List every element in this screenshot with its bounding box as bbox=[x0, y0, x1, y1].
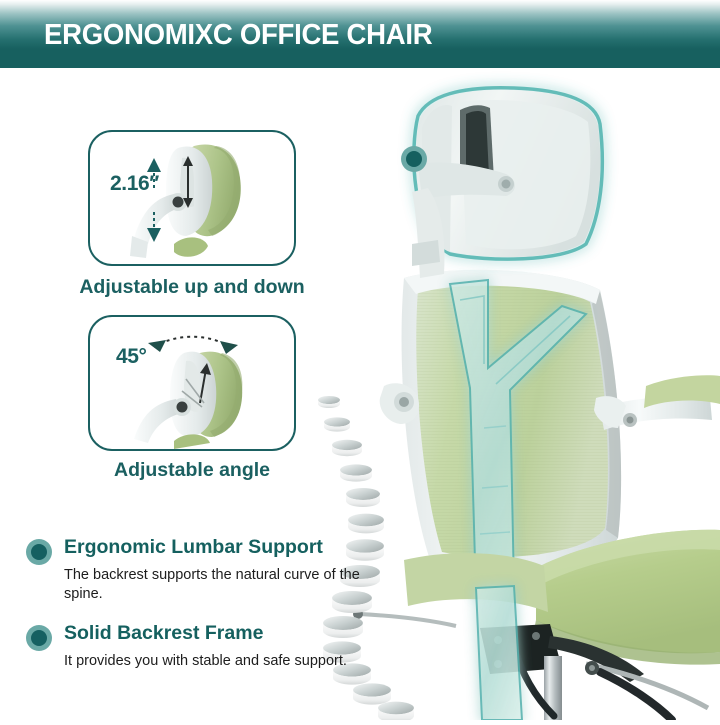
disc-14 bbox=[378, 702, 414, 720]
ring-bullet-icon bbox=[26, 625, 52, 651]
headrest-rotation-arc-icon bbox=[90, 317, 294, 449]
disc-4 bbox=[340, 464, 372, 481]
disc-6 bbox=[348, 514, 384, 534]
ring-bullet-icon bbox=[26, 539, 52, 565]
disc-2 bbox=[324, 417, 350, 431]
bullet-title: Solid Backrest Frame bbox=[64, 622, 263, 645]
feature-caption-adjustable-angle: Adjustable angle bbox=[52, 459, 332, 482]
headrest-highlight-marker-icon bbox=[401, 146, 427, 172]
disc-5 bbox=[346, 488, 380, 507]
header-banner: ERGONOMIXC OFFICE CHAIR bbox=[0, 0, 720, 68]
disc-13 bbox=[353, 683, 391, 704]
disc-10 bbox=[323, 616, 363, 638]
feature-caption-adjustable-height: Adjustable up and down bbox=[52, 276, 332, 299]
angle-measurement-label: 45° bbox=[116, 345, 147, 369]
page-title: ERGONOMIXC OFFICE CHAIR bbox=[44, 19, 432, 52]
disc-1 bbox=[318, 396, 340, 408]
disc-3 bbox=[332, 440, 362, 456]
height-measurement-label: 2.16″ bbox=[110, 172, 159, 196]
disc-7 bbox=[346, 539, 384, 561]
headrest-vertical-arrows-icon bbox=[90, 132, 294, 264]
feature-card-adjustable-height[interactable]: 2.16″ bbox=[88, 130, 296, 266]
feature-card-adjustable-angle[interactable]: 45° bbox=[88, 315, 296, 451]
bullet-description: It provides you with stable and safe sup… bbox=[64, 652, 364, 671]
bullet-title: Ergonomic Lumbar Support bbox=[64, 536, 323, 559]
bullet-description: The backrest supports the natural curve … bbox=[64, 566, 364, 604]
backrest-frame-lower bbox=[476, 586, 522, 720]
